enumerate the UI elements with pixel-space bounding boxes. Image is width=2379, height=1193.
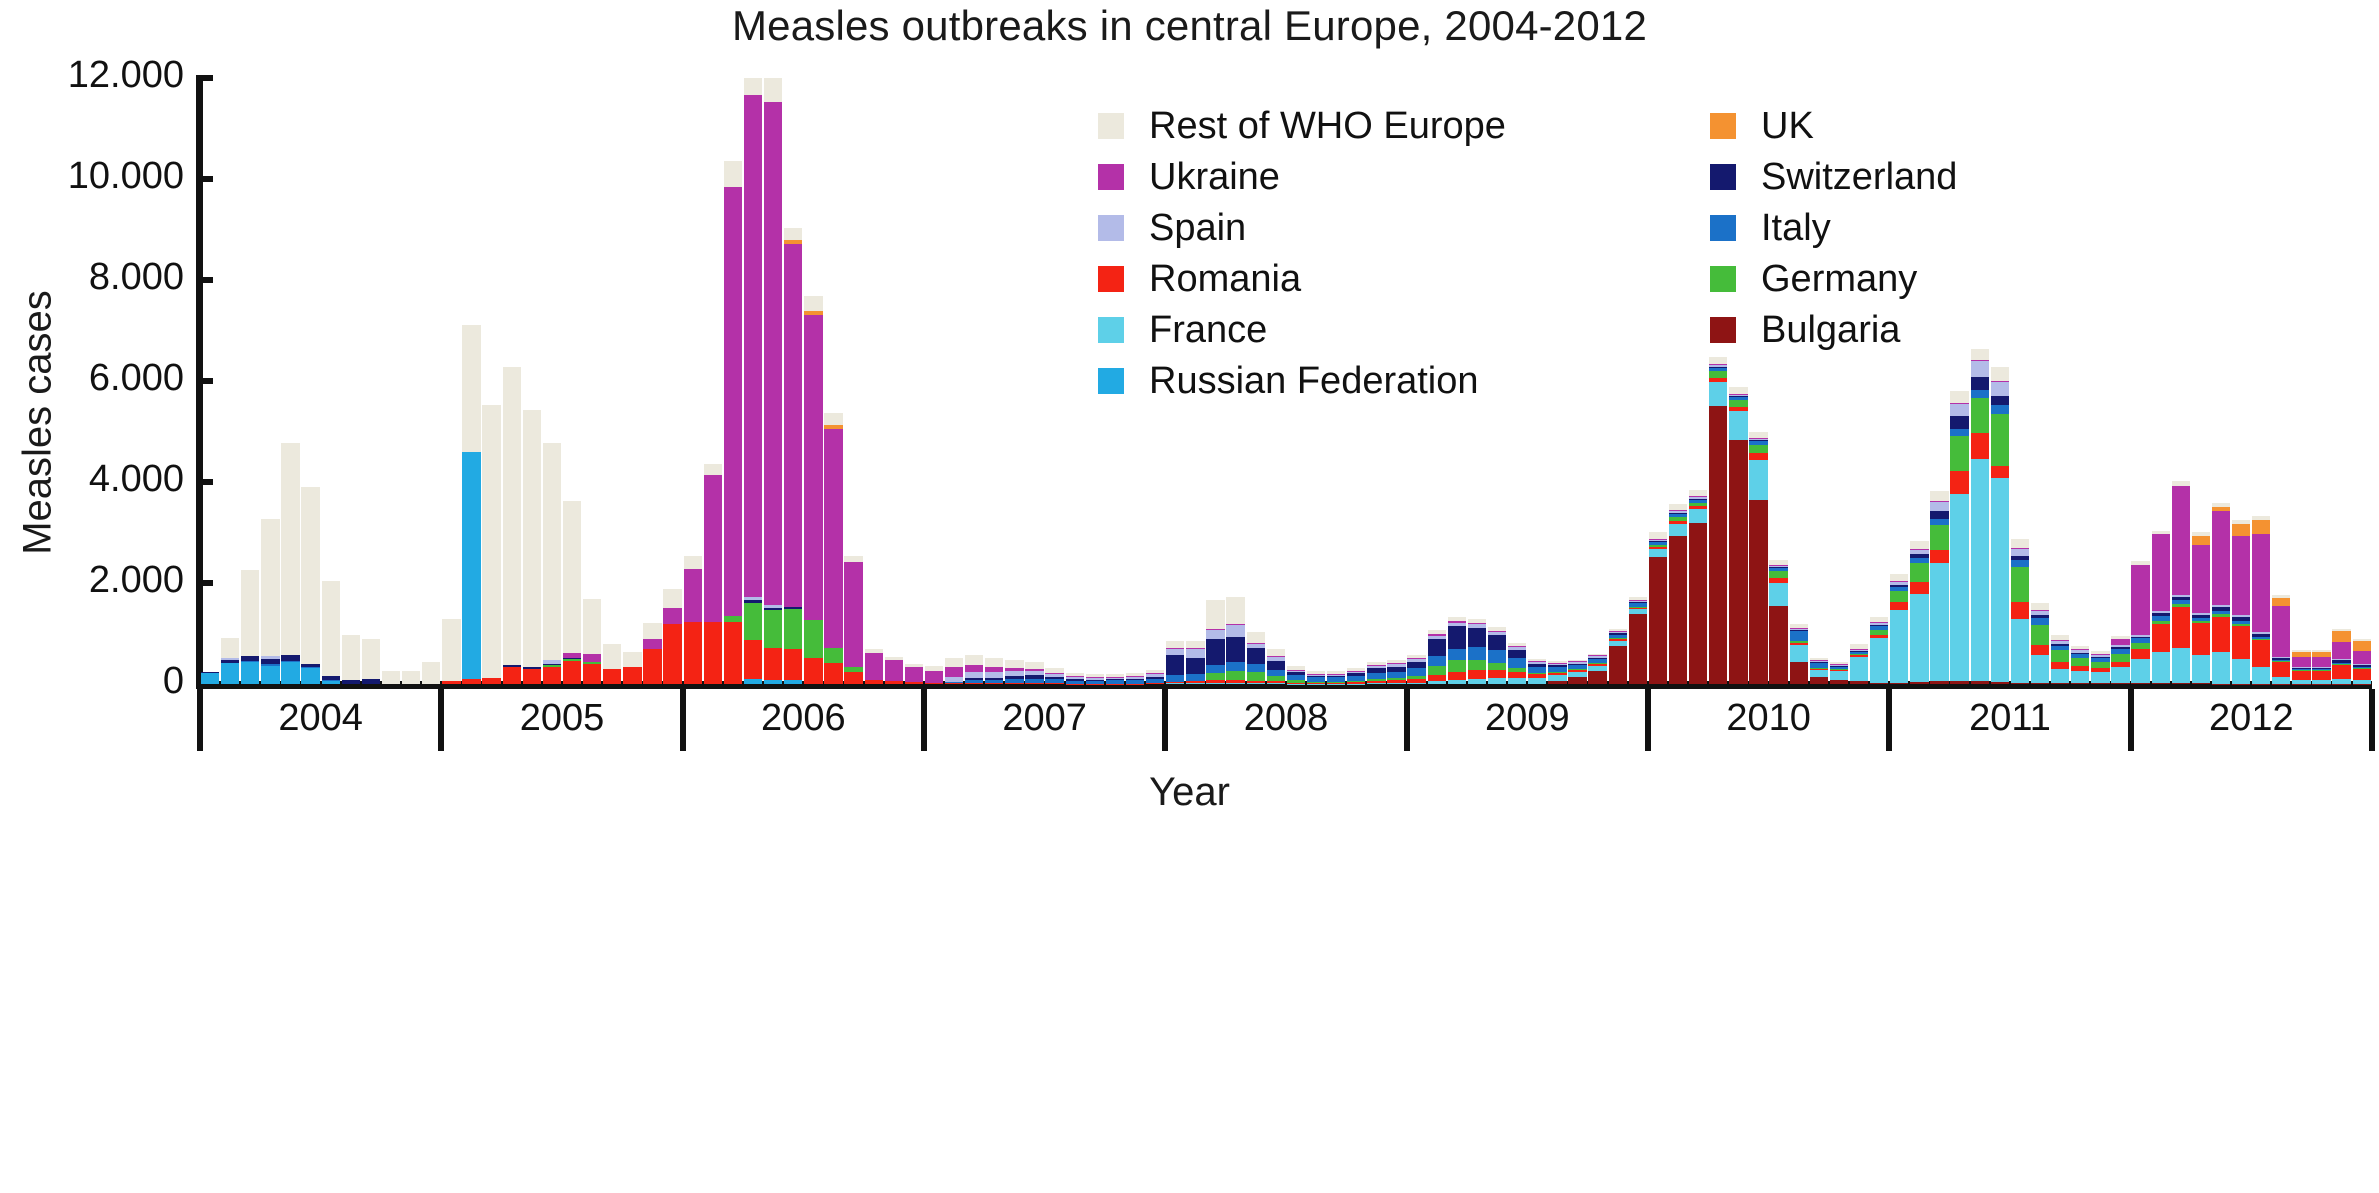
y-tick-label: 12.000 <box>0 54 184 97</box>
bar-segment-romania <box>643 649 661 684</box>
bar-segment-bulgaria <box>2232 684 2250 685</box>
bar-2011-07[interactable] <box>2011 78 2029 684</box>
bar-2004-01[interactable] <box>201 78 219 684</box>
bar-segment-rest-of-who-europe <box>1226 597 1244 624</box>
bar-segment-rest-of-who-europe <box>2031 603 2049 610</box>
bar-segment-switzerland <box>342 680 360 684</box>
bar-2004-10[interactable] <box>382 78 400 684</box>
bar-segment-ukraine <box>684 569 702 622</box>
bar-2006-11[interactable] <box>885 78 903 684</box>
legend-swatch-icon <box>1710 266 1736 292</box>
bar-segment-romania <box>623 667 641 684</box>
bar-2006-01[interactable] <box>684 78 702 684</box>
bar-segment-italy <box>1991 405 2009 414</box>
bar-2004-12[interactable] <box>422 78 440 684</box>
legend-label: France <box>1149 311 1267 349</box>
bar-2007-06[interactable] <box>1025 78 1043 684</box>
bar-segment-bulgaria <box>1629 614 1647 684</box>
bar-segment-romania <box>985 683 1003 685</box>
bar-2009-11[interactable] <box>1609 78 1627 684</box>
bar-2012-12[interactable] <box>2353 78 2371 684</box>
bar-2009-07[interactable] <box>1528 78 1546 684</box>
bar-segment-rest-of-who-europe <box>503 367 521 665</box>
bar-segment-spain <box>1930 502 1948 511</box>
bar-2012-02[interactable] <box>2152 78 2170 684</box>
bar-segment-uk <box>2232 524 2250 536</box>
y-tick-label: 4.000 <box>0 458 184 501</box>
bar-segment-switzerland <box>1488 635 1506 650</box>
bar-2004-11[interactable] <box>402 78 420 684</box>
bar-segment-france <box>1528 678 1546 684</box>
bar-2005-11[interactable] <box>643 78 661 684</box>
bar-segment-rest-of-who-europe <box>2011 539 2029 548</box>
bar-2004-05[interactable] <box>281 78 299 684</box>
bar-segment-france <box>1488 678 1506 684</box>
bar-segment-rest-of-who-europe <box>1206 600 1224 628</box>
bar-segment-bulgaria <box>1870 683 1888 685</box>
bar-segment-romania <box>2212 617 2230 652</box>
bar-segment-rest-of-who-europe <box>1005 660 1023 668</box>
bar-segment-ukraine <box>2252 534 2270 632</box>
bar-segment-rest-of-who-europe <box>1649 532 1667 539</box>
bar-segment-ukraine <box>2192 545 2210 613</box>
bar-2005-04[interactable] <box>503 78 521 684</box>
bar-segment-france <box>1186 683 1204 684</box>
bar-segment-france <box>1327 684 1345 685</box>
bar-segment-romania <box>1126 684 1144 685</box>
legend-item-spain[interactable]: Spain <box>1098 202 1506 253</box>
bar-2005-01[interactable] <box>442 78 460 684</box>
bar-segment-france <box>1468 679 1486 684</box>
bar-segment-russian-federation <box>201 673 219 684</box>
bar-segment-bulgaria <box>1850 681 1868 684</box>
bar-segment-bulgaria <box>2091 683 2109 684</box>
year-label-2004: 2004 <box>200 697 441 740</box>
bar-segment-germany <box>1890 591 1908 603</box>
bar-segment-rest-of-who-europe <box>543 443 561 660</box>
legend-swatch-icon <box>1098 368 1124 394</box>
bar-2005-09[interactable] <box>603 78 621 684</box>
bar-2012-04[interactable] <box>2192 78 2210 684</box>
bar-2012-08[interactable] <box>2272 78 2290 684</box>
bar-segment-rest-of-who-europe <box>563 501 581 653</box>
legend-item-uk[interactable]: UK <box>1710 100 1957 151</box>
bar-segment-bulgaria <box>1588 671 1606 684</box>
bar-segment-bulgaria <box>1790 662 1808 684</box>
bar-2012-10[interactable] <box>2312 78 2330 684</box>
bar-segment-romania <box>2031 645 2049 655</box>
bar-segment-rest-of-who-europe <box>804 296 822 311</box>
bar-2006-04[interactable] <box>744 78 762 684</box>
bar-segment-romania <box>1025 683 1043 684</box>
bar-segment-russian-federation <box>764 680 782 684</box>
bar-segment-rest-of-who-europe <box>1729 387 1747 394</box>
bar-segment-bulgaria <box>2172 683 2190 684</box>
bar-2006-03[interactable] <box>724 78 742 684</box>
bar-segment-russian-federation <box>784 680 802 684</box>
bar-2004-04[interactable] <box>261 78 279 684</box>
bar-segment-rest-of-who-europe <box>643 623 661 638</box>
bar-segment-romania <box>1991 466 2009 478</box>
bar-segment-france <box>1206 683 1224 684</box>
bar-segment-bulgaria <box>2011 683 2029 685</box>
bar-segment-switzerland <box>1166 655 1184 675</box>
legend-item-ukraine[interactable]: Ukraine <box>1098 151 1506 202</box>
bar-segment-romania <box>2353 669 2371 680</box>
bar-segment-italy <box>1407 668 1425 676</box>
bar-segment-italy <box>1428 656 1446 666</box>
bar-2010-02[interactable] <box>1669 78 1687 684</box>
bar-segment-romania <box>503 667 521 684</box>
bar-segment-germany <box>764 610 782 648</box>
bar-segment-france <box>1950 494 1968 681</box>
bar-2005-06[interactable] <box>543 78 561 684</box>
bar-2011-05[interactable] <box>1971 78 1989 684</box>
bar-2007-01[interactable] <box>925 78 943 684</box>
bar-2005-02[interactable] <box>462 78 480 684</box>
bar-2011-08[interactable] <box>2031 78 2049 684</box>
bar-segment-rest-of-who-europe <box>301 487 319 664</box>
bar-segment-russianspike <box>241 662 259 684</box>
bar-2011-12[interactable] <box>2111 78 2129 684</box>
bar-2006-08[interactable] <box>824 78 842 684</box>
bar-segment-france <box>1910 594 1928 682</box>
bar-segment-bulgaria <box>2131 683 2149 684</box>
bar-segment-ukraine <box>2353 651 2371 664</box>
bar-segment-romania <box>1005 683 1023 685</box>
bar-segment-rest-of-who-europe <box>1709 357 1727 365</box>
bar-segment-spain <box>1991 382 2009 396</box>
bar-2006-02[interactable] <box>704 78 722 684</box>
bar-segment-bulgaria <box>1890 683 1908 684</box>
bar-segment-bulgaria <box>1830 680 1848 684</box>
bar-2012-01[interactable] <box>2131 78 2149 684</box>
bar-segment-romania <box>2272 662 2290 677</box>
bar-2011-06[interactable] <box>1991 78 2009 684</box>
bar-segment-romania <box>764 648 782 680</box>
bar-segment-france <box>1790 645 1808 662</box>
bar-segment-italy <box>1226 662 1244 671</box>
bar-segment-bulgaria <box>2353 684 2371 685</box>
bar-segment-rest-of-who-europe <box>402 671 420 684</box>
bar-segment-rest-of-who-europe <box>824 413 842 426</box>
legend-item-bulgaria[interactable]: Bulgaria <box>1710 304 1957 355</box>
bar-segment-france <box>1850 657 1868 681</box>
bar-segment-bulgaria <box>1609 646 1627 684</box>
bar-segment-rest-of-who-europe <box>281 443 299 655</box>
bar-segment-switzerland <box>1226 637 1244 662</box>
bar-segment-ukraine <box>764 102 782 605</box>
bar-segment-rest-of-who-europe <box>1910 541 1928 549</box>
bar-2009-08[interactable] <box>1548 78 1566 684</box>
bar-2007-03[interactable] <box>965 78 983 684</box>
bar-segment-germany <box>1930 525 1948 550</box>
bar-segment-rest-of-who-europe <box>1971 349 1989 360</box>
legend-item-rest-of-who-europe[interactable]: Rest of WHO Europe <box>1098 100 1506 151</box>
bar-2012-11[interactable] <box>2332 78 2350 684</box>
bar-segment-france <box>2192 655 2210 683</box>
bar-segment-rest-of-who-europe <box>965 655 983 666</box>
bar-2012-06[interactable] <box>2232 78 2250 684</box>
bar-segment-ukraine <box>2292 657 2310 667</box>
bar-segment-germany <box>1729 400 1747 407</box>
bar-segment-romania <box>704 622 722 684</box>
bar-2006-12[interactable] <box>905 78 923 684</box>
bar-segment-france <box>1930 563 1948 681</box>
bar-segment-france <box>1810 670 1828 677</box>
legend-swatch-icon <box>1710 317 1736 343</box>
legend-label: UK <box>1761 107 1814 145</box>
bar-segment-romania <box>744 640 762 680</box>
bar-segment-bulgaria <box>2152 683 2170 684</box>
x-axis-title: Year <box>0 770 2379 815</box>
year-label-2006: 2006 <box>683 697 924 740</box>
bar-segment-switzerland <box>1991 396 2009 406</box>
bar-segment-romania <box>543 667 561 684</box>
legend-label: Ukraine <box>1149 158 1280 196</box>
bar-segment-germany <box>2051 650 2069 662</box>
legend-item-romania[interactable]: Romania <box>1098 253 1506 304</box>
bar-segment-ukraine <box>824 429 842 648</box>
bar-segment-switzerland <box>1448 626 1466 648</box>
bar-segment-france <box>1428 681 1446 684</box>
bar-segment-bulgaria <box>2272 684 2290 685</box>
bar-segment-romania <box>2192 623 2210 654</box>
bar-2005-07[interactable] <box>563 78 581 684</box>
bar-segment-ukraine <box>784 244 802 608</box>
bar-segment-romania <box>965 683 983 684</box>
bar-segment-france <box>1387 683 1405 684</box>
legend-swatch-icon <box>1710 215 1736 241</box>
bar-segment-russianspike <box>261 666 279 684</box>
bar-segment-rest-of-who-europe <box>422 662 440 684</box>
y-tick-label: 2.000 <box>0 559 184 602</box>
bar-segment-italy <box>1790 631 1808 642</box>
bar-segment-romania <box>1106 684 1124 685</box>
bar-2007-07[interactable] <box>1045 78 1063 684</box>
bar-segment-bulgaria <box>2111 683 2129 684</box>
bar-segment-romania <box>1086 684 1104 685</box>
legend-item-france[interactable]: France <box>1098 304 1506 355</box>
bar-segment-france <box>2091 672 2109 683</box>
bar-segment-romania <box>523 669 541 684</box>
bar-segment-france <box>1367 683 1385 684</box>
bar-segment-france <box>2212 652 2230 683</box>
bar-2012-09[interactable] <box>2292 78 2310 684</box>
bar-segment-bulgaria <box>1769 606 1787 684</box>
bar-2009-12[interactable] <box>1629 78 1647 684</box>
bar-2012-05[interactable] <box>2212 78 2230 684</box>
bar-2005-10[interactable] <box>623 78 641 684</box>
bar-segment-romania <box>2332 665 2350 679</box>
bar-2005-12[interactable] <box>663 78 681 684</box>
bar-2006-10[interactable] <box>865 78 883 684</box>
bar-2006-05[interactable] <box>764 78 782 684</box>
bar-segment-switzerland <box>1950 416 1968 429</box>
year-label-2005: 2005 <box>441 697 682 740</box>
bar-2012-07[interactable] <box>2252 78 2270 684</box>
bar-segment-rest-of-who-europe <box>462 325 480 451</box>
bar-segment-bulgaria <box>2212 684 2230 685</box>
bar-2004-08[interactable] <box>342 78 360 684</box>
bar-segment-switzerland <box>1468 628 1486 647</box>
bar-segment-russianspike <box>462 452 480 679</box>
bar-2006-06[interactable] <box>784 78 802 684</box>
bar-segment-germany <box>2111 654 2129 662</box>
bar-segment-germany <box>1709 371 1727 378</box>
bar-segment-germany <box>1991 414 2009 466</box>
bar-segment-bulgaria <box>1950 681 1968 684</box>
y-axis-title: Measles cases <box>16 163 61 683</box>
y-tick-label: 0 <box>0 660 184 703</box>
bar-2004-09[interactable] <box>362 78 380 684</box>
y-tick-label: 10.000 <box>0 155 184 198</box>
bar-2006-07[interactable] <box>804 78 822 684</box>
bar-segment-rest-of-who-europe <box>1991 367 2009 380</box>
bar-segment-france <box>1870 638 1888 682</box>
bar-segment-germany <box>1468 660 1486 670</box>
bar-segment-romania <box>2011 602 2029 619</box>
bar-segment-romania <box>1468 670 1486 679</box>
bar-2011-09[interactable] <box>2051 78 2069 684</box>
bar-segment-romania <box>865 680 883 684</box>
bar-2009-06[interactable] <box>1508 78 1526 684</box>
bar-segment-romania <box>462 679 480 684</box>
bar-segment-rest-of-who-europe <box>241 570 259 656</box>
bar-2005-08[interactable] <box>583 78 601 684</box>
bar-segment-uk <box>2192 536 2210 545</box>
bar-segment-romania <box>885 681 903 684</box>
bar-segment-france <box>2152 652 2170 683</box>
bar-2006-09[interactable] <box>844 78 862 684</box>
bar-segment-romania <box>784 649 802 680</box>
bar-segment-rest-of-who-europe <box>261 519 279 655</box>
bar-segment-romania <box>804 658 822 684</box>
bar-segment-ukraine <box>865 653 883 680</box>
bar-segment-rest-of-who-europe <box>945 658 963 667</box>
bar-segment-ukraine <box>583 654 601 662</box>
bar-segment-france <box>1407 683 1425 685</box>
bar-2011-11[interactable] <box>2091 78 2109 684</box>
bar-2004-03[interactable] <box>241 78 259 684</box>
legend-item-germany[interactable]: Germany <box>1710 253 1957 304</box>
bar-segment-bulgaria <box>1729 440 1747 684</box>
bar-segment-bulgaria <box>2071 683 2089 684</box>
bar-segment-ukraine <box>905 667 923 682</box>
bar-2004-07[interactable] <box>322 78 340 684</box>
bar-segment-france <box>1669 524 1687 536</box>
bar-segment-bulgaria <box>1910 682 1928 684</box>
y-tick-label: 8.000 <box>0 256 184 299</box>
bar-segment-bulgaria <box>1930 681 1948 684</box>
bar-segment-france <box>1166 683 1184 684</box>
bar-segment-bulgaria <box>1709 406 1727 684</box>
bar-segment-bulgaria <box>1649 557 1667 684</box>
bar-segment-ukraine <box>2232 536 2250 615</box>
bar-2005-03[interactable] <box>482 78 500 684</box>
bar-segment-france <box>1267 683 1285 684</box>
bar-segment-rest-of-who-europe <box>684 556 702 569</box>
bar-2007-04[interactable] <box>985 78 1003 684</box>
bar-2009-09[interactable] <box>1568 78 1586 684</box>
bar-segment-switzerland <box>1508 650 1526 659</box>
bar-segment-romania <box>684 622 702 684</box>
bar-segment-switzerland <box>1930 511 1948 519</box>
bar-2004-02[interactable] <box>221 78 239 684</box>
bar-segment-rest-of-who-europe <box>523 410 541 668</box>
bar-segment-france <box>1307 684 1325 685</box>
bar-segment-germany <box>1448 660 1466 672</box>
bar-2010-03[interactable] <box>1689 78 1707 684</box>
legend-item-italy[interactable]: Italy <box>1710 202 1957 253</box>
bar-2004-06[interactable] <box>301 78 319 684</box>
bar-segment-france <box>1649 549 1667 558</box>
legend-swatch-icon <box>1710 164 1736 190</box>
bar-segment-ukraine <box>643 639 661 649</box>
bar-segment-ukraine <box>724 187 742 616</box>
bar-segment-germany <box>1971 398 1989 432</box>
bar-segment-rest-of-who-europe <box>1247 632 1265 643</box>
bar-segment-romania <box>563 661 581 684</box>
bar-2007-08[interactable] <box>1066 78 1084 684</box>
legend-item-switzerland[interactable]: Switzerland <box>1710 151 1957 202</box>
bar-segment-spain <box>1186 649 1204 658</box>
bar-segment-germany <box>824 648 842 663</box>
bar-segment-france <box>1226 683 1244 684</box>
bar-segment-romania <box>583 664 601 684</box>
bar-2011-10[interactable] <box>2071 78 2089 684</box>
bar-segment-romania <box>663 624 681 684</box>
year-label-2008: 2008 <box>1165 697 1406 740</box>
bar-segment-rest-of-who-europe <box>1890 574 1908 581</box>
year-label-2010: 2010 <box>1648 697 1889 740</box>
bar-segment-switzerland <box>1971 377 1989 391</box>
bar-segment-bulgaria <box>1971 681 1989 684</box>
bar-segment-france <box>1508 678 1526 684</box>
bar-segment-spain <box>1226 625 1244 637</box>
bar-segment-france <box>1448 680 1466 684</box>
bar-segment-ukraine <box>2172 486 2190 595</box>
bar-segment-bulgaria <box>2031 683 2049 684</box>
bar-2007-02[interactable] <box>945 78 963 684</box>
bar-segment-romania <box>1066 684 1084 685</box>
bar-segment-rest-of-who-europe <box>583 599 601 655</box>
bar-2010-01[interactable] <box>1649 78 1667 684</box>
bar-segment-ukraine <box>2152 534 2170 611</box>
legend-item-russian-federation[interactable]: Russian Federation <box>1098 355 1506 406</box>
bar-2007-05[interactable] <box>1005 78 1023 684</box>
bar-segment-romania <box>2292 671 2310 680</box>
bar-segment-romania <box>2252 640 2270 667</box>
bar-segment-italy <box>1488 650 1506 663</box>
bar-2009-10[interactable] <box>1588 78 1606 684</box>
bar-segment-rest-of-who-europe <box>482 405 500 678</box>
bar-segment-switzerland <box>362 679 380 684</box>
bar-2012-03[interactable] <box>2172 78 2190 684</box>
bar-segment-romania <box>824 663 842 684</box>
bar-segment-italy <box>1206 665 1224 673</box>
bar-segment-france <box>1991 478 2009 682</box>
bar-segment-france <box>2131 659 2149 683</box>
bar-segment-france <box>1347 684 1365 685</box>
bar-2005-05[interactable] <box>523 78 541 684</box>
bar-segment-russianspike <box>301 668 319 684</box>
bar-segment-romania <box>2131 649 2149 660</box>
bar-segment-france <box>2031 655 2049 683</box>
bar-segment-italy <box>1971 390 1989 398</box>
bar-segment-ukraine <box>2212 511 2230 605</box>
bar-segment-romania <box>1448 672 1466 680</box>
